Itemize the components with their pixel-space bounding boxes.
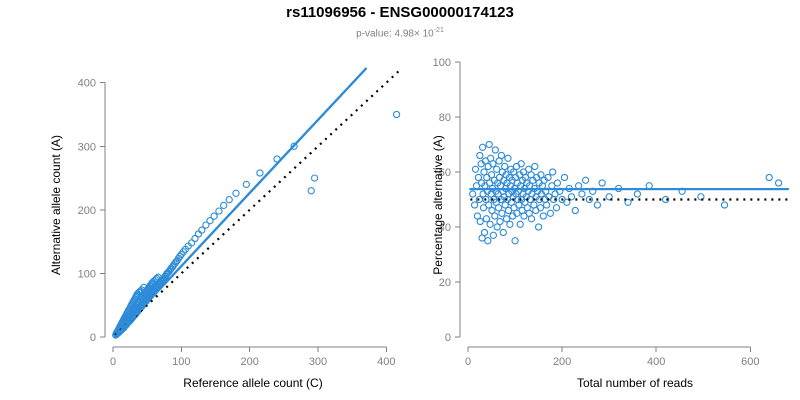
data-point	[487, 221, 493, 227]
data-point	[532, 163, 538, 169]
right-y-axis-title: Percentage alternative (A)	[431, 135, 445, 274]
y-tick-label: 400	[78, 78, 96, 90]
data-point	[721, 202, 727, 208]
data-point	[536, 224, 542, 230]
data-point	[394, 111, 400, 117]
x-tick-label: 0	[110, 356, 116, 368]
fit-line	[115, 69, 366, 337]
data-point	[490, 232, 496, 238]
data-point	[497, 218, 503, 224]
x-tick-label: 300	[309, 356, 327, 368]
left-x-axis-title: Reference allele count (C)	[183, 376, 322, 390]
data-point	[492, 147, 498, 153]
y-tick-label: 80	[439, 112, 451, 124]
data-point	[547, 210, 553, 216]
data-point	[477, 218, 483, 224]
data-point	[512, 238, 518, 244]
right-panel: 0204060801000200400600 Total number of r…	[420, 0, 800, 400]
y-tick-label: 200	[78, 205, 96, 217]
data-point	[766, 174, 772, 180]
data-point	[500, 229, 506, 235]
data-point	[583, 177, 589, 183]
left-panel: 01002003004000100200300400 Reference all…	[0, 0, 420, 400]
data-point	[211, 213, 217, 219]
y-tick-label: 300	[78, 141, 96, 153]
data-point	[634, 191, 640, 197]
figure-root: rs11096956 - ENSG00000174123 p-value: 4.…	[0, 0, 800, 400]
data-point	[599, 180, 605, 186]
data-point	[308, 188, 314, 194]
data-point	[776, 180, 782, 186]
data-point	[537, 205, 543, 211]
data-point	[472, 166, 478, 172]
right-panel-data	[470, 141, 788, 244]
data-point	[528, 216, 534, 222]
data-points	[113, 111, 400, 338]
data-point	[579, 191, 585, 197]
data-points	[470, 141, 782, 244]
x-tick-label: 400	[647, 356, 665, 368]
data-point	[243, 181, 249, 187]
data-point	[477, 152, 483, 158]
data-point	[518, 161, 524, 167]
data-point	[554, 180, 560, 186]
x-tick-label: 100	[172, 356, 190, 368]
data-point	[480, 144, 486, 150]
x-tick-label: 200	[240, 356, 258, 368]
data-point	[486, 141, 492, 147]
data-point	[572, 207, 578, 213]
data-point	[594, 202, 600, 208]
left-y-axis-title: Alternative allele count (A)	[49, 135, 63, 275]
data-point	[481, 229, 487, 235]
y-tick-label: 100	[433, 57, 451, 69]
y-tick-label: 20	[439, 277, 451, 289]
y-tick-label: 100	[78, 268, 96, 280]
data-point	[561, 174, 567, 180]
data-point	[540, 213, 546, 219]
data-point	[498, 152, 504, 158]
data-point	[485, 238, 491, 244]
x-tick-label: 0	[465, 356, 471, 368]
data-point	[257, 170, 263, 176]
data-point	[472, 202, 478, 208]
data-point	[226, 197, 232, 203]
data-point	[312, 175, 318, 181]
data-point	[483, 216, 489, 222]
data-point	[221, 202, 227, 208]
data-point	[470, 191, 476, 197]
data-point	[233, 190, 239, 196]
data-point	[499, 210, 505, 216]
left-panel-data	[113, 69, 400, 338]
x-tick-label: 200	[553, 356, 571, 368]
data-point	[490, 161, 496, 167]
data-point	[507, 221, 513, 227]
right-x-axis-title: Total number of reads	[577, 376, 693, 390]
data-point	[502, 163, 508, 169]
x-tick-label: 400	[377, 356, 395, 368]
data-point	[550, 169, 556, 175]
data-point	[505, 155, 511, 161]
data-point	[492, 213, 498, 219]
y-tick-label: 0	[445, 332, 451, 344]
data-point	[195, 231, 201, 237]
y-tick-label: 0	[90, 332, 96, 344]
data-point	[216, 208, 222, 214]
reference-line	[115, 70, 400, 335]
data-point	[517, 221, 523, 227]
x-tick-label: 600	[741, 356, 759, 368]
data-point	[553, 205, 559, 211]
right-panel-axes: 0204060801000200400600	[433, 57, 760, 368]
